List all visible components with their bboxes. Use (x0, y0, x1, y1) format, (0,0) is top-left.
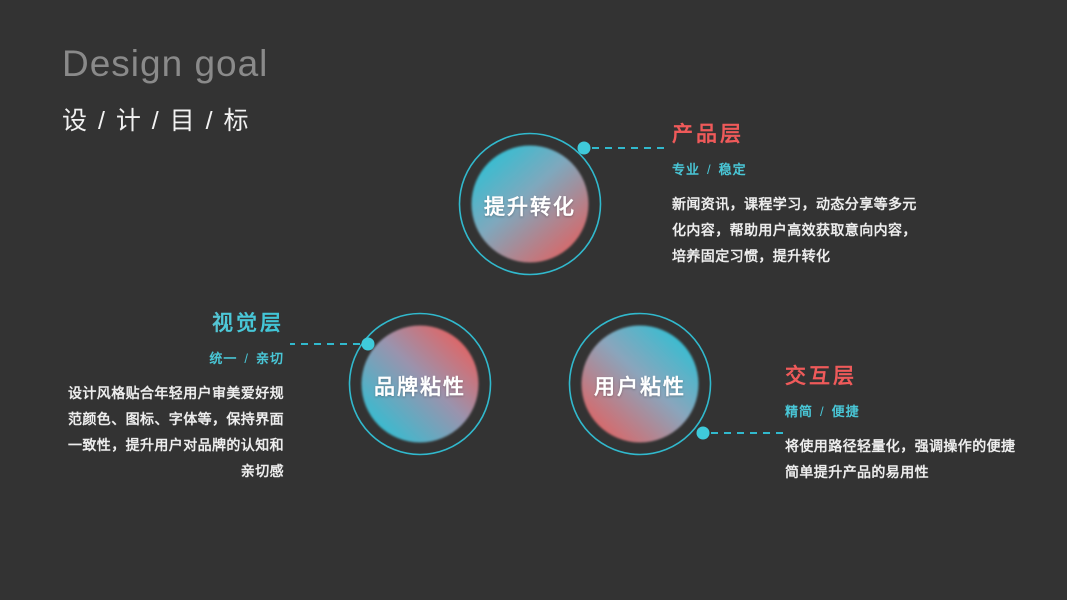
info-keywords-visual: 统一/亲切 (0, 348, 284, 367)
info-title-product: 产品层 (672, 118, 972, 148)
info-keywords-interaction: 精简/便捷 (785, 401, 1067, 420)
info-keyword-b-visual: 亲切 (256, 351, 284, 366)
info-title-visual: 视觉层 (0, 307, 284, 337)
info-separator-interaction: / (813, 404, 832, 419)
info-block-visual: 视觉层 统一/亲切 设计风格贴合年轻用户审美爱好规范颜色、图标、字体等，保持界面… (0, 307, 284, 484)
info-keyword-a-interaction: 精简 (785, 404, 813, 419)
page-title-english: Design goal (62, 44, 482, 85)
node-label-right: 用户粘性 (594, 371, 686, 401)
page-title-chinese: 设 / 计 / 目 / 标 (62, 101, 482, 137)
node-label-top: 提升转化 (484, 191, 576, 221)
info-keyword-b-interaction: 便捷 (832, 404, 860, 419)
connector-dot-interaction (697, 427, 710, 440)
slide-canvas: Design goal 设 / 计 / 目 / 标 (0, 0, 1067, 600)
connector-dot-visual (362, 338, 375, 351)
info-keyword-a-product: 专业 (672, 162, 700, 177)
info-block-product: 产品层 专业/稳定 新闻资讯，课程学习，动态分享等多元化内容，帮助用户高效获取意… (672, 118, 972, 269)
info-separator-product: / (700, 162, 719, 177)
page-heading: Design goal 设 / 计 / 目 / 标 (62, 44, 482, 137)
info-separator-visual: / (237, 351, 256, 366)
info-keyword-a-visual: 统一 (209, 351, 237, 366)
info-body-product: 新闻资讯，课程学习，动态分享等多元化内容，帮助用户高效获取意向内容，培养固定习惯… (672, 191, 928, 269)
connector-dot-product (578, 142, 591, 155)
info-title-interaction: 交互层 (785, 360, 1067, 390)
info-block-interaction: 交互层 精简/便捷 将使用路径轻量化，强调操作的便捷简单提升产品的易用性 (785, 360, 1067, 485)
info-keywords-product: 专业/稳定 (672, 159, 972, 178)
info-body-visual: 设计风格贴合年轻用户审美爱好规范颜色、图标、字体等，保持界面一致性，提升用户对品… (64, 380, 284, 484)
node-label-left: 品牌粘性 (374, 371, 466, 401)
info-keyword-b-product: 稳定 (719, 162, 747, 177)
info-body-interaction: 将使用路径轻量化，强调操作的便捷简单提升产品的易用性 (785, 433, 1023, 485)
